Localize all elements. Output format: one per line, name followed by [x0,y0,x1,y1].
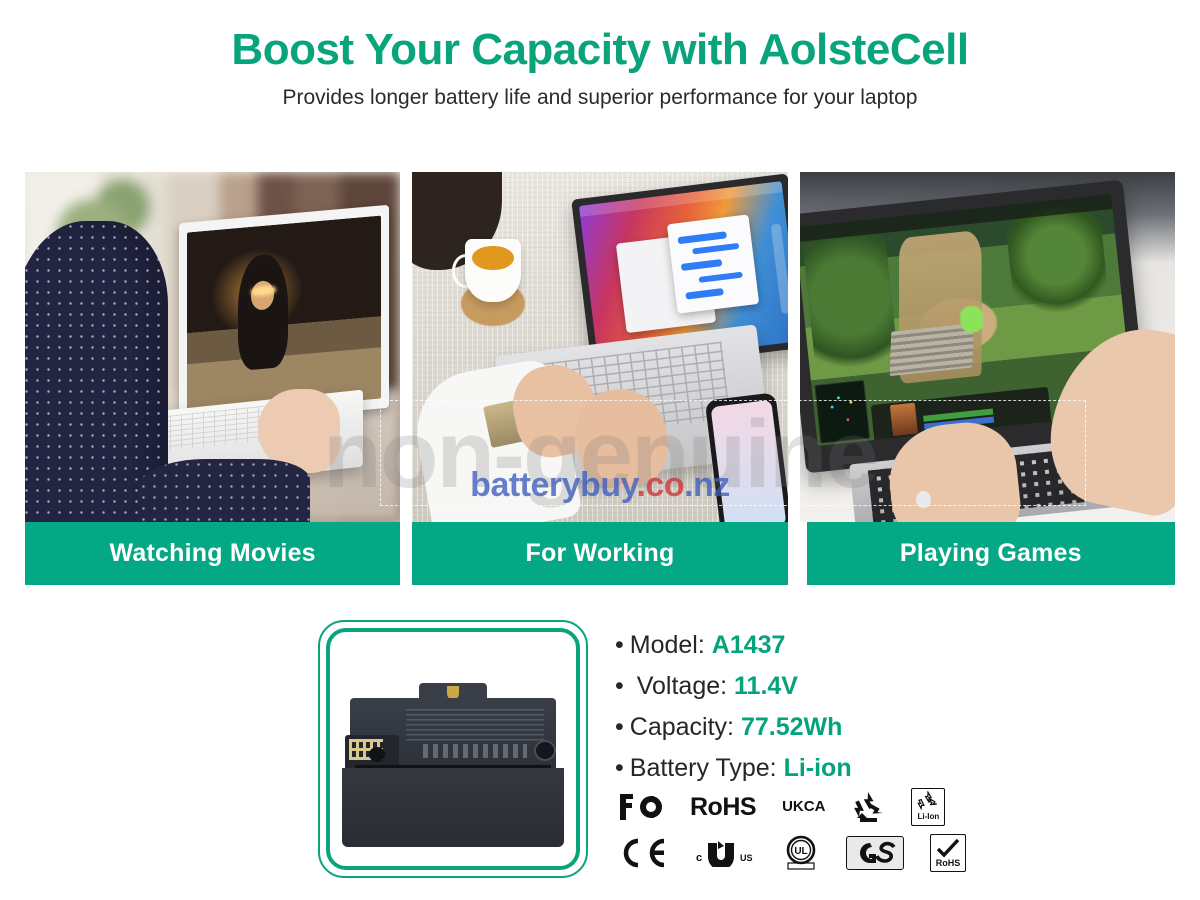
use-case-cards: Watching Movies [25,172,1175,585]
ukca-icon: UK CA [782,800,825,814]
fcc-icon [618,792,664,822]
battery-product-image [330,632,576,866]
product-frame-inner [326,628,580,870]
spec-value: 11.4V [734,672,798,700]
spec-row-capacity: •Capacity: 77.52Wh [615,712,1035,742]
bullet-icon: • [615,672,624,700]
svg-text:UL: UL [794,846,807,857]
use-case-card-for-working[interactable]: For Working [412,172,787,585]
card-caption: Playing Games [807,522,1175,585]
svg-text:US: US [740,853,753,863]
use-case-card-watching-movies[interactable]: Watching Movies [25,172,400,585]
photo-playing-games [800,172,1175,522]
spec-label: Voltage: [630,672,727,700]
page-title: Boost Your Capacity with AolsteCell [0,26,1200,74]
product-detail-section: •Model: A1437 • Voltage: 11.4V •Capacity… [0,606,1200,900]
ukca-line2: CA [804,800,826,814]
spec-row-voltage: • Voltage: 11.4V [615,671,1035,701]
ce-icon [618,837,670,869]
spec-value: A1437 [712,631,786,659]
ul-icon: UL [782,834,820,872]
spec-row-model: •Model: A1437 [615,630,1035,660]
bullet-icon: • [615,631,624,659]
page-header: Boost Your Capacity with AolsteCell Prov… [0,0,1200,110]
liion-label: Li-Ion [918,812,940,821]
rohs-icon: RoHS [690,793,756,822]
photo-for-working [412,172,787,522]
bullet-icon: • [615,754,624,782]
spec-label: Model: [630,631,705,659]
bullet-icon: • [615,713,624,741]
spec-list: •Model: A1437 • Voltage: 11.4V •Capacity… [615,630,1035,794]
rohs-check-label: RoHS [936,859,961,868]
certification-row-1: RoHS UK CA [618,784,1038,830]
certification-row-2: c US UL [618,830,1038,876]
spec-label: Battery Type: [630,754,777,782]
cul-us-icon: c US [696,839,756,867]
product-marketing-page: Boost Your Capacity with AolsteCell Prov… [0,0,1200,900]
gs-icon [846,836,904,870]
spec-label: Capacity: [630,713,734,741]
card-caption: For Working [412,522,787,585]
spec-row-battery-type: •Battery Type: Li-ion [615,753,1035,783]
liion-recycle-icon: Li-Ion [911,788,945,826]
card-caption: Watching Movies [25,522,400,585]
spec-value: Li-ion [784,754,852,782]
spec-value: 77.52Wh [741,713,842,741]
photo-watching-movies [25,172,400,522]
ukca-line1: UK [782,800,804,814]
page-subtitle: Provides longer battery life and superio… [0,86,1200,110]
svg-text:c: c [696,852,702,864]
recycle-icon [851,791,885,823]
certification-badges: RoHS UK CA [618,784,1038,876]
use-case-card-playing-games[interactable]: Playing Games [800,172,1175,585]
rohs-check-icon: RoHS [930,834,966,872]
